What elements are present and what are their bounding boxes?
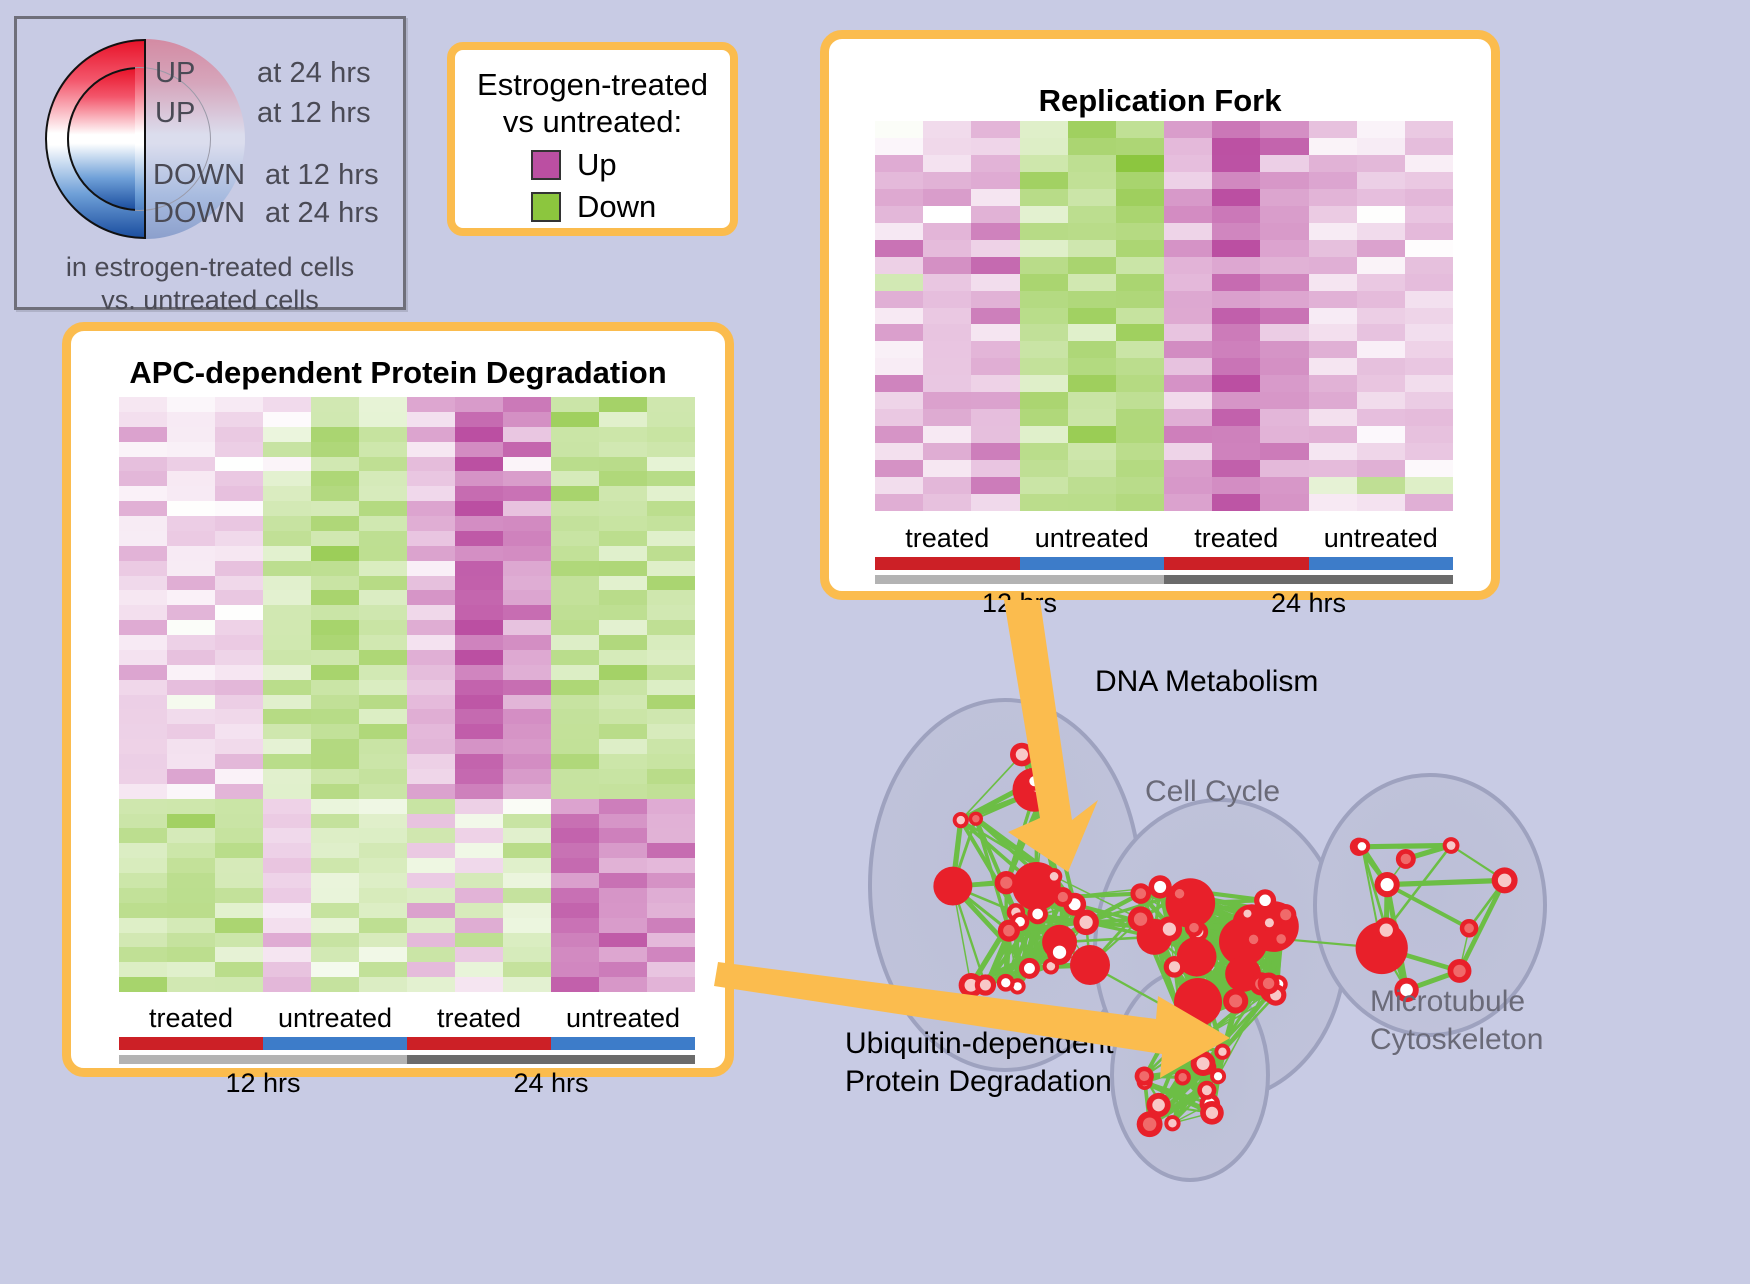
heatmap-cell — [359, 427, 407, 442]
heatmap-cell — [167, 650, 215, 665]
heatmap-cell — [167, 918, 215, 933]
network-node[interactable] — [1046, 868, 1063, 885]
heatmap-cell — [407, 828, 455, 843]
network-node[interactable] — [1460, 919, 1479, 938]
time-color-segment — [1164, 575, 1453, 584]
heatmap-cell — [551, 486, 599, 501]
heatmap-cell — [1260, 172, 1308, 189]
heatmap-cell — [1212, 375, 1260, 392]
heatmap-cell — [599, 412, 647, 427]
heatmap-cell — [1405, 291, 1453, 308]
network-node-inner — [1079, 916, 1092, 929]
network-node[interactable] — [969, 812, 983, 826]
network-node-inner — [1032, 909, 1043, 920]
heatmap-cell — [311, 650, 359, 665]
network-node[interactable] — [1254, 889, 1276, 911]
heatmap-cell — [455, 739, 503, 754]
heatmap-cell — [359, 397, 407, 412]
network-node[interactable] — [1070, 945, 1110, 985]
network-node-inner — [1135, 888, 1146, 899]
heatmap-cell — [1260, 426, 1308, 443]
network-node[interactable] — [1198, 1028, 1213, 1043]
network-node[interactable] — [1258, 972, 1280, 994]
panel-replication-fork[interactable]: Replication Fork treateduntreatedtreated… — [820, 30, 1500, 600]
heatmap-cell — [311, 516, 359, 531]
network-node[interactable] — [1185, 918, 1203, 936]
network-node[interactable] — [933, 867, 972, 906]
heatmap-cell — [311, 918, 359, 933]
heatmap-cell — [599, 695, 647, 710]
network-node[interactable] — [953, 812, 969, 828]
heatmap-cell — [647, 814, 695, 829]
heatmap-cell — [1260, 477, 1308, 494]
heatmap-cell — [1309, 426, 1357, 443]
heatmap-cell — [971, 240, 1019, 257]
network-node-inner — [1139, 1071, 1149, 1081]
circle-key-direction-1: UP — [155, 97, 196, 130]
heatmap-cell — [923, 291, 971, 308]
network-node[interactable] — [1147, 1093, 1171, 1117]
heatmap-cell — [263, 516, 311, 531]
time-label: 12 hrs — [119, 1068, 407, 1099]
network-node-inner — [1218, 1048, 1226, 1056]
group-color-segment — [1020, 557, 1165, 570]
heatmap-cell — [503, 784, 551, 799]
heatmap-cell — [119, 516, 167, 531]
time-color-segment — [119, 1055, 407, 1064]
network-node-inner — [1134, 913, 1147, 926]
heatmap-cell — [1164, 443, 1212, 460]
heatmap-cell — [167, 977, 215, 992]
group-label: untreated — [1020, 523, 1165, 554]
heatmap-cell — [1212, 409, 1260, 426]
heatmap-cell — [1405, 257, 1453, 274]
heatmap-cell — [599, 814, 647, 829]
heatmap-cell — [1357, 324, 1405, 341]
group-color-segment — [1309, 557, 1454, 570]
heatmap-cell — [923, 477, 971, 494]
heatmap-cell — [1357, 189, 1405, 206]
network-node[interactable] — [1053, 887, 1073, 907]
heatmap-cell — [599, 471, 647, 486]
network-node[interactable] — [1448, 959, 1472, 983]
heatmap-cell — [407, 962, 455, 977]
heatmap-cell — [167, 486, 215, 501]
network-node[interactable] — [1027, 904, 1048, 925]
heatmap-cell — [1260, 375, 1308, 392]
heatmap-cell — [1164, 392, 1212, 409]
network-node[interactable] — [1174, 978, 1222, 1026]
heatmap-cell — [119, 799, 167, 814]
network-node[interactable] — [1177, 1025, 1196, 1044]
heatmap-cell — [1116, 460, 1164, 477]
circle-key-footer-line2: vs. untreated cells — [17, 284, 403, 317]
heatmap-cell — [359, 977, 407, 992]
heatmap-cell — [215, 843, 263, 858]
heatmap-cell — [647, 784, 695, 799]
heatmap-cell — [1116, 375, 1164, 392]
heatmap-cell — [1309, 155, 1357, 172]
heatmap-cell — [263, 739, 311, 754]
heatmap-cell — [1357, 460, 1405, 477]
panel-replication-fork-title: Replication Fork — [829, 83, 1491, 119]
network-node-inner — [1202, 1031, 1210, 1039]
heatmap-cell — [455, 412, 503, 427]
heatmap-cell — [647, 650, 695, 665]
heatmap-cell — [311, 724, 359, 739]
heatmap-cell — [167, 873, 215, 888]
heatmap-cell — [311, 858, 359, 873]
heatmap-cell — [1212, 155, 1260, 172]
network-node[interactable] — [998, 920, 1020, 942]
heatmap-cell — [119, 933, 167, 948]
heatmap-cell — [1357, 341, 1405, 358]
up-down-legend-title: Estrogen-treated vs untreated: — [455, 66, 730, 140]
network-node[interactable] — [1272, 930, 1291, 949]
heatmap-cell — [599, 724, 647, 739]
network-node-inner — [1380, 923, 1393, 936]
heatmap-cell — [311, 665, 359, 680]
heatmap-cell — [359, 799, 407, 814]
heatmap-cell — [551, 814, 599, 829]
heatmap-cell — [119, 814, 167, 829]
network-node[interactable] — [1157, 916, 1182, 941]
heatmap-cell — [263, 620, 311, 635]
network-node[interactable] — [1128, 906, 1154, 932]
heatmap-cell — [1068, 291, 1116, 308]
heatmap-cell — [407, 471, 455, 486]
heatmap-cell — [263, 977, 311, 992]
heatmap-cell — [167, 412, 215, 427]
network-node[interactable] — [1073, 909, 1099, 935]
heatmap-cell — [1260, 460, 1308, 477]
heatmap-cell — [1309, 324, 1357, 341]
heatmap-cell — [167, 724, 215, 739]
circle-key-direction-3: DOWN — [153, 197, 245, 230]
heatmap-cell — [551, 873, 599, 888]
network-node[interactable] — [1245, 930, 1263, 948]
heatmap-cell — [1309, 375, 1357, 392]
heatmap-cell — [215, 680, 263, 695]
network-node[interactable] — [1047, 939, 1073, 965]
heatmap-cell — [119, 427, 167, 442]
network-node[interactable] — [1275, 904, 1296, 925]
heatmap-cell — [119, 397, 167, 412]
heatmap-cell — [119, 635, 167, 650]
network-node[interactable] — [1153, 1028, 1175, 1050]
heatmap-cell — [1405, 477, 1453, 494]
heatmap-cell — [1020, 189, 1068, 206]
network-node[interactable] — [995, 871, 1018, 894]
circle-key-footer: in estrogen-treated cells vs. untreated … — [17, 251, 403, 317]
heatmap-cell — [1116, 138, 1164, 155]
network-node[interactable] — [1375, 872, 1400, 897]
heatmap-cell — [215, 695, 263, 710]
heatmap-cell — [599, 665, 647, 680]
heatmap-cell — [311, 828, 359, 843]
group-color-segment — [1164, 557, 1309, 570]
heatmap-cell — [923, 121, 971, 138]
network-node[interactable] — [1261, 914, 1278, 931]
heatmap-cell — [1357, 257, 1405, 274]
network-node[interactable] — [1019, 958, 1040, 979]
heatmap-cell — [263, 680, 311, 695]
heatmap-cell — [215, 962, 263, 977]
heatmap-cell — [455, 933, 503, 948]
time-label: 24 hrs — [1164, 588, 1453, 619]
heatmap-cell — [119, 947, 167, 962]
group-label: treated — [1164, 523, 1309, 554]
heatmap-cell — [311, 442, 359, 457]
network-node[interactable] — [1130, 883, 1151, 904]
heatmap-cell — [455, 650, 503, 665]
heatmap-cell — [359, 843, 407, 858]
heatmap-cell — [1212, 223, 1260, 240]
network-node[interactable] — [1148, 875, 1171, 898]
heatmap-cell — [215, 903, 263, 918]
panel-apc-degradation[interactable]: APC-dependent Protein Degradation treate… — [62, 322, 734, 1077]
network-node[interactable] — [1197, 1081, 1216, 1100]
heatmap-cell — [167, 828, 215, 843]
network-node-inner — [972, 815, 979, 822]
heatmap-cell — [971, 358, 1019, 375]
heatmap-cell — [875, 223, 923, 240]
heatmap-cell — [215, 531, 263, 546]
network-node-inner — [1249, 935, 1258, 944]
network-node[interactable] — [1174, 1069, 1190, 1085]
heatmap-cell — [875, 494, 923, 511]
heatmap-cell — [647, 442, 695, 457]
network-node-inner — [1401, 854, 1411, 864]
heatmap-cell — [167, 903, 215, 918]
heatmap-cell — [923, 308, 971, 325]
network-node[interactable] — [1164, 1115, 1180, 1131]
heatmap-cell — [263, 724, 311, 739]
group-color-segment — [263, 1037, 407, 1050]
network-node[interactable] — [1170, 885, 1188, 903]
heatmap-cell — [1164, 138, 1212, 155]
heatmap-cell — [875, 189, 923, 206]
heatmap-cell — [647, 962, 695, 977]
network-node[interactable] — [1010, 743, 1034, 767]
heatmap-cell — [1405, 324, 1453, 341]
heatmap-cell — [599, 620, 647, 635]
network-node-inner — [1001, 978, 1010, 987]
heatmap-cell — [407, 888, 455, 903]
network-node[interactable] — [1210, 1068, 1226, 1084]
heatmap-cell — [1164, 409, 1212, 426]
heatmap-cell — [599, 754, 647, 769]
heatmap-cell — [551, 501, 599, 516]
heatmap-cell — [551, 709, 599, 724]
heatmap-cell — [503, 486, 551, 501]
heatmap-cell — [503, 501, 551, 516]
heatmap-cell — [407, 397, 455, 412]
heatmap-cell — [407, 531, 455, 546]
heatmap-cell — [503, 412, 551, 427]
heatmap-cell — [119, 620, 167, 635]
heatmap-cell — [1020, 206, 1068, 223]
heatmap-cell — [119, 903, 167, 918]
heatmap-cell — [1309, 341, 1357, 358]
circle-key-time-1: at 12 hrs — [257, 97, 371, 130]
cluster-label-microtubule-cytoskeleton: Microtubule Cytoskeleton — [1370, 983, 1543, 1058]
heatmap-cell — [167, 635, 215, 650]
heatmap-cell — [407, 769, 455, 784]
network-node[interactable] — [997, 974, 1015, 992]
network-node[interactable] — [975, 974, 996, 995]
heatmap-cell — [1116, 240, 1164, 257]
heatmap-cell — [215, 397, 263, 412]
heatmap-cell — [455, 680, 503, 695]
heatmap-cell — [311, 635, 359, 650]
heatmap-cell — [647, 709, 695, 724]
heatmap-cell — [1357, 392, 1405, 409]
heatmap-cell — [647, 724, 695, 739]
heatmap-cell — [1260, 257, 1308, 274]
heatmap-cell — [359, 962, 407, 977]
heatmap-cell — [647, 546, 695, 561]
heatmap-cell — [551, 962, 599, 977]
heatmap-cell — [551, 590, 599, 605]
heatmap-cell — [647, 769, 695, 784]
heatmap-cell — [1164, 291, 1212, 308]
heatmap-cell — [311, 486, 359, 501]
heatmap-cell — [599, 516, 647, 531]
heatmap-cell — [551, 605, 599, 620]
heatmap-cell — [311, 784, 359, 799]
heatmap-cell — [311, 457, 359, 472]
heatmap-cell — [1020, 257, 1068, 274]
heatmap-cell — [1212, 324, 1260, 341]
heatmap-cell — [503, 828, 551, 843]
heatmap-cell — [359, 858, 407, 873]
heatmap-cell — [1260, 206, 1308, 223]
heatmap-cell — [359, 769, 407, 784]
heatmap-cell — [263, 903, 311, 918]
heatmap-cell — [875, 409, 923, 426]
network-node[interactable] — [1214, 1044, 1230, 1060]
circle-key-direction-2: DOWN — [153, 159, 245, 192]
heatmap-cell — [455, 561, 503, 576]
heatmap-cell — [1212, 426, 1260, 443]
heatmap-cell — [599, 799, 647, 814]
heatmap-cell — [971, 443, 1019, 460]
network-node[interactable] — [1396, 849, 1416, 869]
network-node[interactable] — [1373, 917, 1399, 943]
heatmap-cell — [1068, 274, 1116, 291]
heatmap-cell — [263, 695, 311, 710]
up-down-legend: Estrogen-treated vs untreated: Up Down — [447, 42, 738, 236]
heatmap-cell — [875, 308, 923, 325]
network-node-inner — [1464, 923, 1474, 933]
heatmap-cell — [1309, 206, 1357, 223]
heatmap-cell — [455, 962, 503, 977]
heatmap-cell — [647, 501, 695, 516]
heatmap-cell — [1357, 494, 1405, 511]
heatmap-cell — [263, 531, 311, 546]
heatmap-cell — [503, 947, 551, 962]
heatmap-cell — [359, 665, 407, 680]
network-edge — [1362, 846, 1451, 847]
heatmap-cell — [1260, 392, 1308, 409]
heatmap-cell — [551, 561, 599, 576]
network-node[interactable] — [1164, 956, 1186, 978]
network-node[interactable] — [1223, 988, 1248, 1013]
time-labels-replication: 12 hrs24 hrs — [875, 588, 1453, 619]
network-node[interactable] — [1135, 1066, 1154, 1085]
heatmap-cell — [923, 257, 971, 274]
heatmap-cell — [311, 843, 359, 858]
heatmap-cell — [551, 843, 599, 858]
network-node[interactable] — [1354, 838, 1370, 854]
heatmap-cell — [875, 257, 923, 274]
heatmap-cell — [1116, 426, 1164, 443]
network-node-inner — [1050, 872, 1059, 881]
network-node[interactable] — [1443, 837, 1460, 854]
heatmap-cell — [599, 977, 647, 992]
heatmap-cell — [503, 620, 551, 635]
heatmap-cell — [875, 172, 923, 189]
heatmap-cell — [1309, 172, 1357, 189]
heatmap-cell — [503, 977, 551, 992]
heatmap-cell — [1357, 443, 1405, 460]
heatmap-cell — [215, 486, 263, 501]
heatmap-cell — [407, 442, 455, 457]
heatmap-cell — [359, 754, 407, 769]
network-node-inner — [1229, 994, 1242, 1007]
network-node[interactable] — [1240, 906, 1255, 921]
heatmap-cell — [167, 814, 215, 829]
heatmap-cell — [167, 754, 215, 769]
enrichment-network[interactable]: DNA Metabolism Cell Cycle Microtubule Cy… — [790, 620, 1750, 1279]
network-node[interactable] — [1200, 1101, 1224, 1125]
heatmap-cell — [1116, 121, 1164, 138]
network-node[interactable] — [1492, 867, 1518, 893]
heatmap-cell — [407, 784, 455, 799]
heatmap-cell — [875, 240, 923, 257]
heatmap-cell — [551, 546, 599, 561]
network-node[interactable] — [1025, 771, 1044, 790]
network-node-inner — [1381, 878, 1394, 891]
heatmap-cell — [599, 531, 647, 546]
heatmap-cell — [647, 531, 695, 546]
heatmap-cell — [167, 561, 215, 576]
heatmap-cell — [1309, 138, 1357, 155]
heatmap-cell — [407, 576, 455, 591]
heatmap-cell — [647, 873, 695, 888]
heatmap-cell — [407, 977, 455, 992]
heatmap-cell — [455, 843, 503, 858]
heatmap-cell — [875, 121, 923, 138]
heatmap-cell — [1260, 121, 1308, 138]
heatmap-cell — [1357, 240, 1405, 257]
heatmap-cell — [503, 590, 551, 605]
heatmap-cell — [167, 516, 215, 531]
group-label: untreated — [263, 1003, 407, 1034]
heatmap-cell — [167, 546, 215, 561]
heatmap-cell — [1164, 324, 1212, 341]
heatmap-cell — [599, 918, 647, 933]
heatmap-cell — [167, 397, 215, 412]
heatmap-cell — [215, 888, 263, 903]
heatmap-cell — [1405, 172, 1453, 189]
network-node-inner — [1000, 877, 1012, 889]
heatmap-cell — [311, 903, 359, 918]
heatmap-cell — [923, 443, 971, 460]
heatmap-cell — [1405, 392, 1453, 409]
heatmap-cell — [407, 590, 455, 605]
